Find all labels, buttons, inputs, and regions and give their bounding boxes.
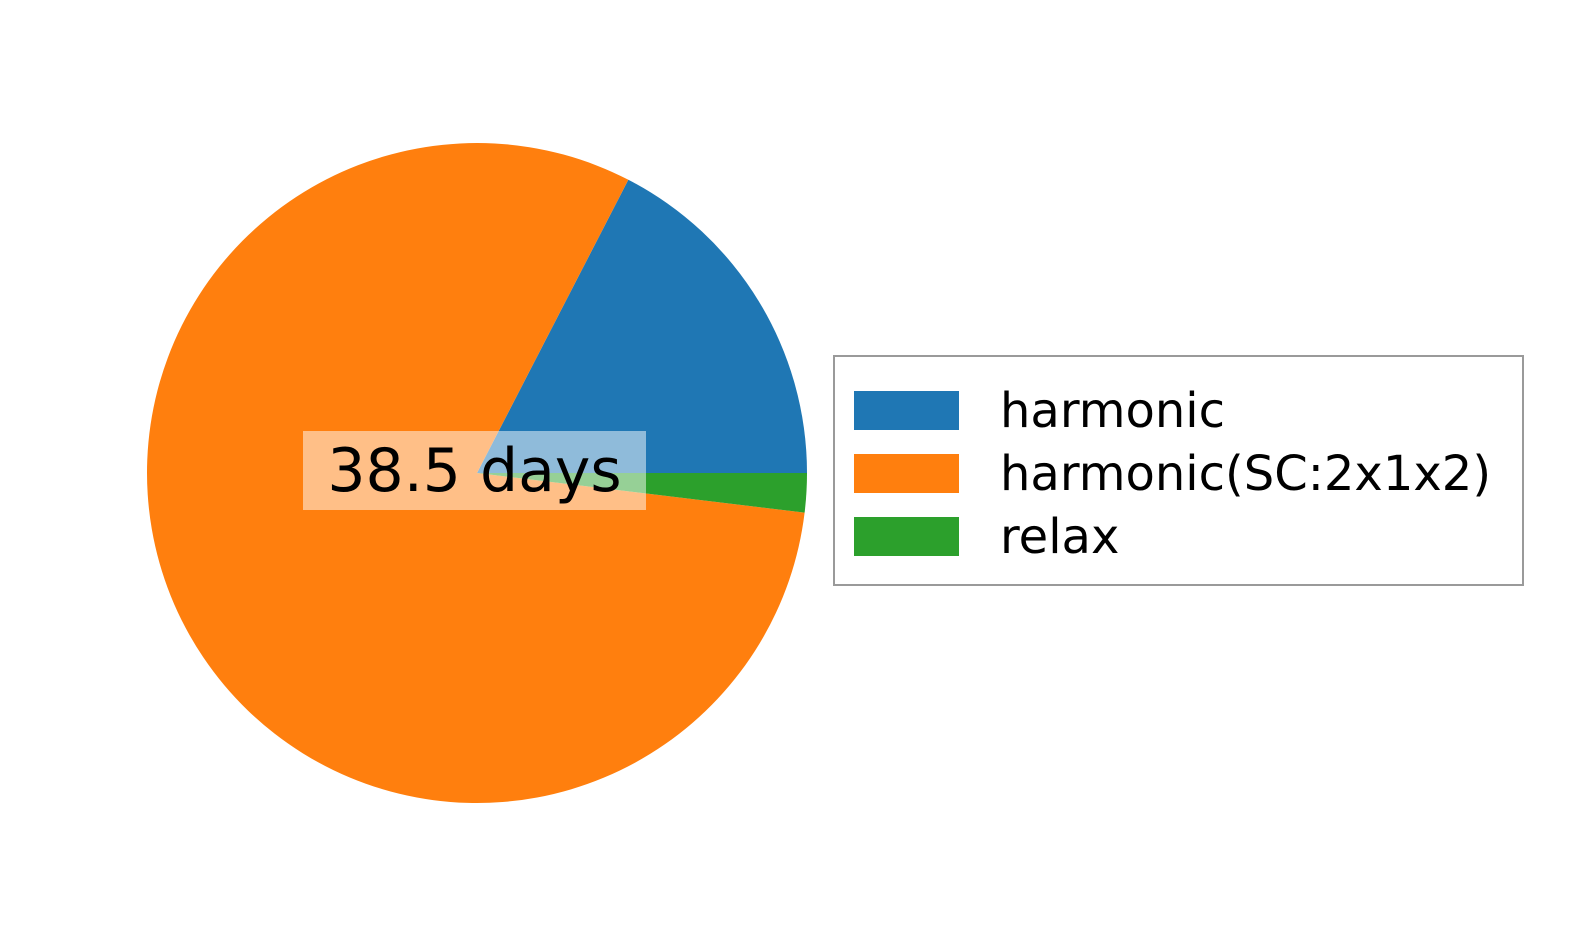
legend-box[interactable]: harmonic harmonic(SC:2x1x2) relax <box>833 355 1524 586</box>
legend-item-harmonic-sc[interactable]: harmonic(SC:2x1x2) <box>854 442 1522 505</box>
legend-item-relax[interactable]: relax <box>854 505 1522 568</box>
legend-swatch-harmonic-sc <box>854 454 959 493</box>
legend-label-harmonic: harmonic <box>1000 387 1225 435</box>
center-total-label-text: 38.5 days <box>327 441 621 501</box>
legend-swatch-relax <box>854 517 959 556</box>
pie-chart-figure: 38.5 days harmonic harmonic(SC:2x1x2) re… <box>0 0 1584 951</box>
center-total-label: 38.5 days <box>303 431 646 510</box>
legend-label-relax: relax <box>1000 513 1119 561</box>
legend-item-harmonic[interactable]: harmonic <box>854 379 1522 442</box>
legend-swatch-harmonic <box>854 391 959 430</box>
legend-label-harmonic-sc: harmonic(SC:2x1x2) <box>1000 450 1491 498</box>
